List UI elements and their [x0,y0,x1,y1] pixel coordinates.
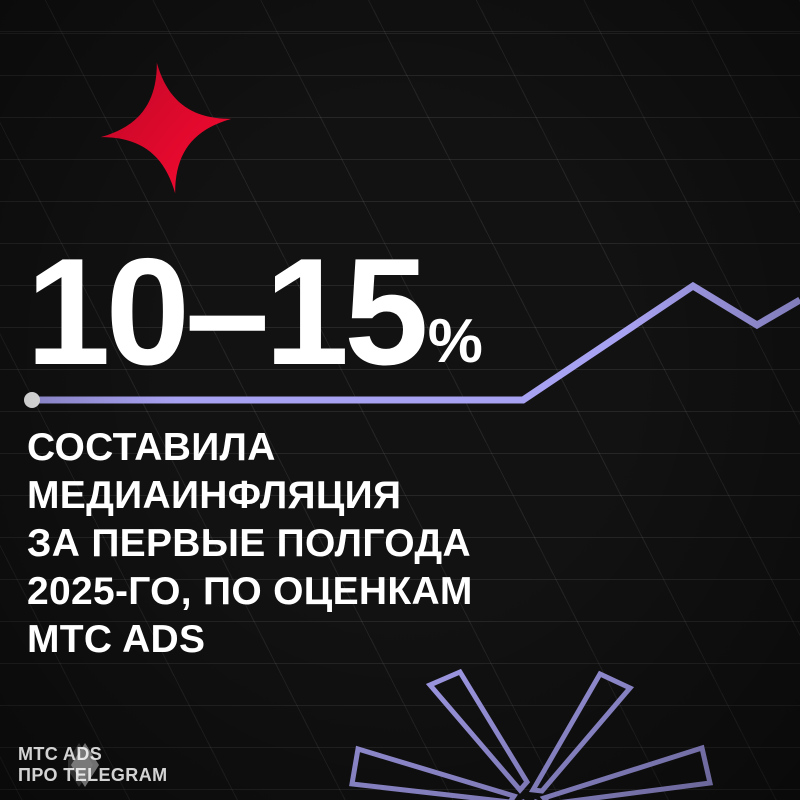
headline-line-3: ЗА ПЕРВЫЕ ПОЛГОДА [27,520,727,568]
headline-text: СОСТАВИЛА МЕДИАИНФЛЯЦИЯ ЗА ПЕРВЫЕ ПОЛГОД… [27,424,727,664]
headline-line-2: МЕДИАИНФЛЯЦИЯ [27,472,727,520]
watermark-text: MTC ADS ПРО TELEGRAM [18,744,168,786]
figure-unit-percent: % [428,316,481,369]
watermark-line-2: ПРО TELEGRAM [18,765,168,786]
purple-sunburst-rays-icon [330,650,730,800]
social-card: 10–15 % СОСТАВИЛА МЕДИАИНФЛЯЦИЯ ЗА ПЕРВЫ… [0,0,800,800]
headline-line-4: 2025-ГО, ПО ОЦЕНКАМ [27,568,727,616]
figure-value: 10–15 [26,248,424,377]
headline-line-5: MTC ADS [27,616,727,664]
watermark: MTC ADS ПРО TELEGRAM [18,744,168,786]
headline-figure: 10–15 % [26,248,481,377]
red-four-point-sparkle-icon [91,53,240,202]
headline-line-1: СОСТАВИЛА [27,424,727,472]
watermark-line-1: MTC ADS [18,744,168,765]
